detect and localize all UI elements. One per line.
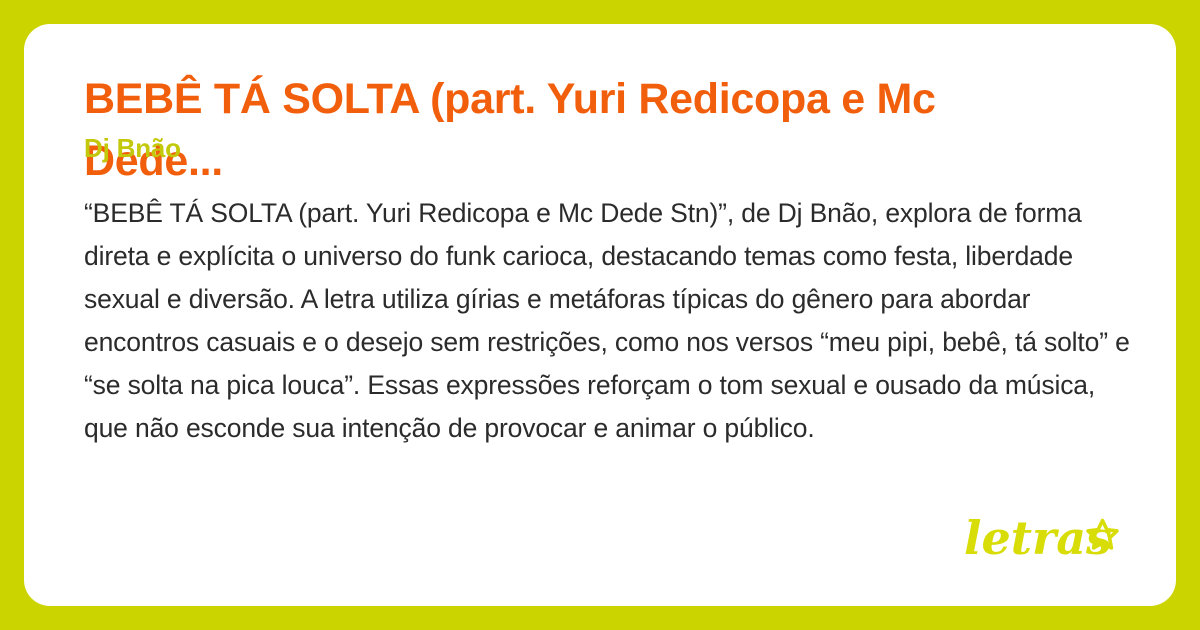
page-title: BEBÊ TÁ SOLTA (part. Yuri Redicopa e Mc … — [84, 68, 1084, 192]
og-image-canvas: BEBÊ TÁ SOLTA (part. Yuri Redicopa e Mc … — [0, 0, 1200, 630]
card-header: BEBÊ TÁ SOLTA (part. Yuri Redicopa e Mc … — [84, 68, 1116, 186]
letras-logo: letras — [964, 510, 1124, 568]
letras-wordmark: letras — [964, 511, 1112, 565]
song-description: “BEBÊ TÁ SOLTA (part. Yuri Redicopa e Mc… — [84, 192, 1130, 450]
song-summary-card: BEBÊ TÁ SOLTA (part. Yuri Redicopa e Mc … — [24, 24, 1176, 606]
artist-name: Dj Bnão — [84, 132, 181, 164]
